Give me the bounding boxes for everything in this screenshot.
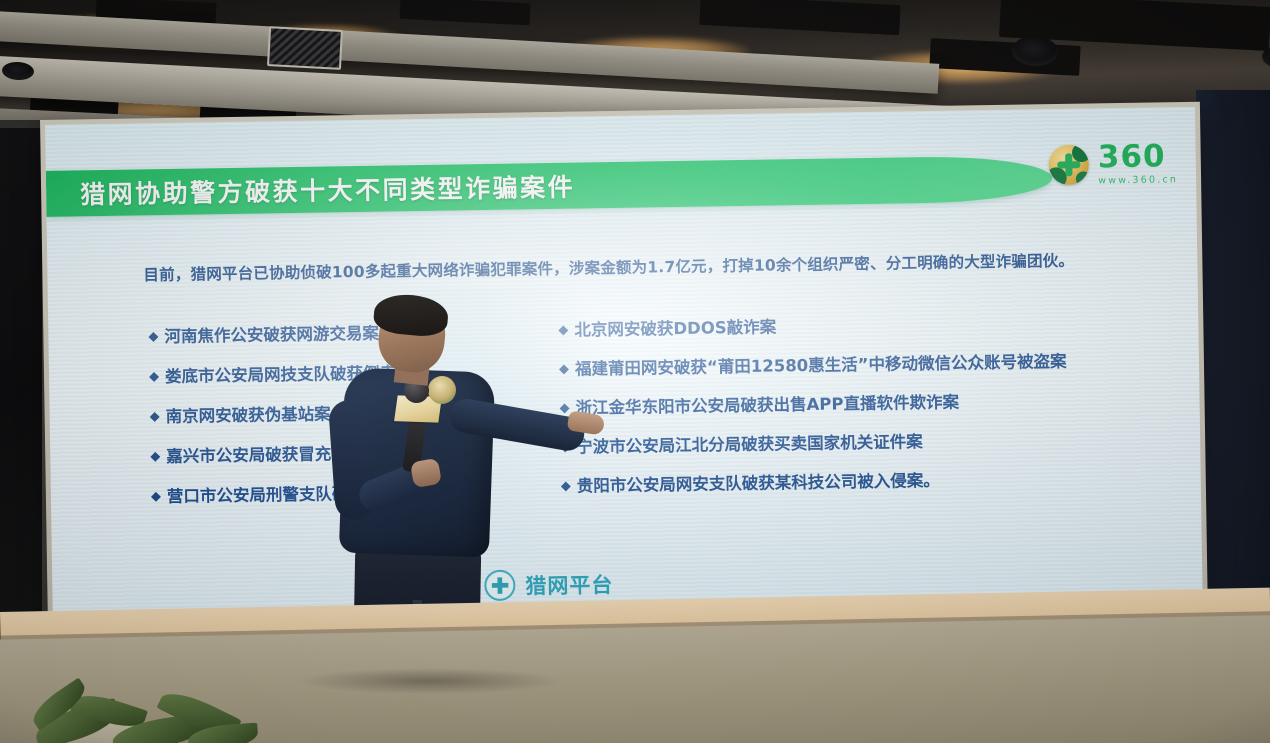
slide-header-band: 猎网协助警方破获十大不同类型诈骗案件 — [46, 155, 1053, 217]
list-item-label: 福建莆田网安破获“莆田12580惠生活”中移动微信公众账号被盗案 — [575, 353, 1067, 380]
brand-name: 360 — [1098, 141, 1178, 173]
list-item: ◆ 浙江金华东阳市公安局破获出售APP直播软件欺诈案 — [559, 391, 1149, 419]
conference-photo-scene: 猎网协助警方破获十大不同类型诈骗案件 360 www.360.cn 目前，猎网平… — [0, 0, 1270, 743]
slide-lead-paragraph: 目前，猎网平台已协助侦破100多起重大网络诈骗犯罪案件，涉案金额为1.7亿元，打… — [143, 248, 1133, 286]
diamond-bullet-icon: ◆ — [150, 450, 160, 465]
360-shield-icon — [1049, 144, 1090, 185]
brand-logo-360: 360 www.360.cn — [1049, 141, 1179, 187]
potted-plant — [28, 641, 258, 743]
list-item: ◆ 北京网安破获DDOS敲诈案 — [558, 313, 1148, 341]
diamond-bullet-icon: ◆ — [151, 490, 161, 505]
brand-url: www.360.cn — [1098, 175, 1178, 186]
brand-logo-text: 360 www.360.cn — [1098, 141, 1179, 186]
ceiling-vent — [267, 26, 343, 70]
list-item-label: 贵阳市公安局网安支队破获某科技公司被入侵案。 — [577, 472, 940, 497]
diamond-bullet-icon: ◆ — [150, 410, 160, 425]
slide-bullet-columns: ◆ 河南焦作公安破获网游交易案 ◆ 娄底市公安局网技支队破获倒卖 ◆ 南京网安破… — [148, 313, 1151, 529]
list-item-label: 浙江金华东阳市公安局破获出售APP直播软件欺诈案 — [575, 394, 959, 419]
list-item: ◆ 福建莆田网安破获“莆田12580惠生活”中移动微信公众账号被盗案 — [559, 352, 1149, 380]
bullet-column-right: ◆ 北京网安破获DDOS敲诈案 ◆ 福建莆田网安破获“莆田12580惠生活”中移… — [558, 313, 1151, 522]
ceiling-recess — [400, 0, 531, 25]
diamond-bullet-icon: ◆ — [149, 370, 159, 385]
presenter-floor-shadow — [300, 668, 560, 694]
list-item-label: 北京网安破获DDOS敲诈案 — [574, 318, 776, 340]
diamond-bullet-icon: ◆ — [148, 330, 158, 345]
360-cross-glyph — [1057, 153, 1080, 176]
projection-screen-frame: 猎网协助警方破获十大不同类型诈骗案件 360 www.360.cn 目前，猎网平… — [40, 102, 1208, 630]
list-item-label: 宁波市公安局江北分局破获买卖国家机关证件案 — [576, 433, 923, 457]
presentation-slide: 猎网协助警方破获十大不同类型诈骗案件 360 www.360.cn 目前，猎网平… — [45, 107, 1203, 624]
left-dark-panel — [0, 128, 42, 648]
list-item: ◆ 贵阳市公安局网安支队破获某科技公司被入侵案。 — [561, 468, 1151, 496]
slide-title: 猎网协助警方破获十大不同类型诈骗案件 — [80, 168, 576, 212]
ceiling-recess — [699, 0, 900, 35]
list-item: ◆ 宁波市公安局江北分局破获买卖国家机关证件案 — [560, 430, 1150, 458]
